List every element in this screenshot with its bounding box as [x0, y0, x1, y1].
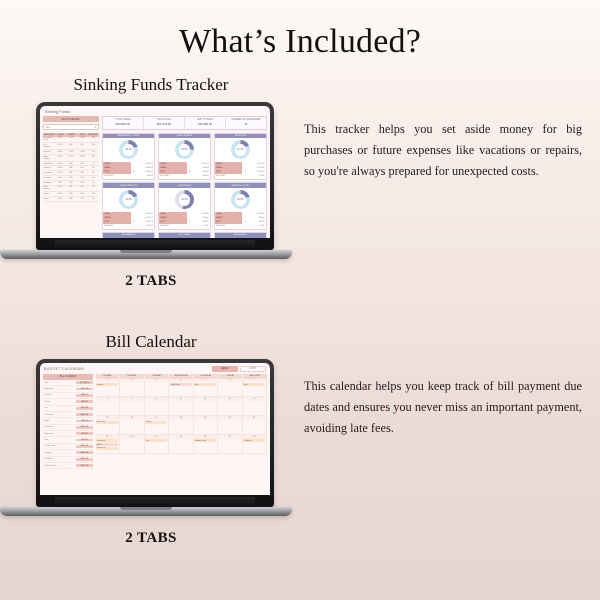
calendar-day-cell[interactable]: Car [145, 439, 170, 454]
fund-row-value: 2,400.00 [137, 167, 155, 169]
button-label: PRINT [250, 368, 257, 370]
table-cell: 3,000 [54, 150, 65, 154]
calendar-day-cell[interactable] [218, 382, 243, 397]
table-cell: Vacation [43, 150, 54, 154]
fund-card-table: GOAL1,000.00SAVED480.00LEFT$520.00MONTHL… [215, 212, 266, 229]
table-cell: 600 [54, 176, 65, 180]
table-cell: 480 [65, 166, 76, 170]
calendar-event[interactable]: Student Loan [194, 439, 216, 442]
calendar-day-cell[interactable] [243, 420, 268, 435]
fund-row-value: 2,600.00 [137, 171, 155, 173]
bill-name: Childcare [45, 458, 77, 460]
fund-row-value: 1,500.00 [193, 163, 211, 165]
table-cell: 560 [77, 162, 88, 166]
table-cell: 1,600 [54, 186, 65, 192]
table-cell: 880 [65, 197, 76, 201]
fund-row-value: 65.00 [248, 225, 266, 227]
fund-row-value: 600.00 [193, 171, 211, 173]
donut-percent-label: 44.0% [125, 199, 132, 201]
table-body: Emergency Fund5,0002,4002,600260Car Repa… [43, 137, 99, 202]
fund-row-value: 1,000.00 [248, 213, 266, 215]
fund-card[interactable]: MEDICAL FUND48.0%GOAL1,000.00SAVED480.00… [214, 182, 267, 229]
calendar-day-cell[interactable] [120, 401, 145, 416]
bill-amount: $210.00 [76, 445, 93, 448]
table-cell: 290 [77, 176, 88, 180]
bill-amount: $42.00 [76, 420, 93, 423]
table-cell: Taxes [43, 197, 54, 201]
calendar-event[interactable]: Water [96, 443, 118, 446]
summary-stat-value: $21,375.00 [144, 122, 184, 126]
fund-row-value: 100.00 [193, 175, 211, 177]
bill-amount: $275.00 [76, 458, 93, 461]
table-cell: 900 [65, 143, 76, 149]
fund-row-label: MONTHLY [103, 174, 131, 178]
donut-chart-wrap: 48.0% [103, 138, 154, 162]
table-cell: 2,600 [77, 137, 88, 143]
bill-amount: $190.00 [76, 464, 93, 467]
bill-name: Internet [45, 394, 77, 396]
fund-card-row: MONTHLY65.00 [215, 224, 266, 228]
table-cell: Pet Care [43, 176, 54, 180]
laptop-mockup-bill-calendar: BUDGET CALENDAR RESETPRINT BILL SUMMARY … [0, 359, 292, 516]
donut-chart: 41.7% [231, 140, 250, 159]
donut-chart: 48.0% [231, 190, 250, 209]
calendar-grid: SUNDAYMONDAYTUESDAYWEDNESDAYTHURSDAYFRID… [96, 374, 268, 493]
section-sinking-funds: Sinking Funds Tracker Sinking Funds ADD … [0, 75, 600, 290]
fund-card[interactable]: CHRISTMAS53.3%GOAL1,200.00SAVED640.00LEF… [158, 182, 211, 229]
mockup-column: Sinking Funds ADD CATEGORY ALL ▾ [0, 95, 300, 290]
table-cell: 600 [77, 143, 88, 149]
calendar-day-cells: InsuranceWaterStreamingCarStudent LoanCh… [96, 439, 268, 454]
calendar-day-cell[interactable] [218, 439, 243, 454]
table-cell: 950 [65, 192, 76, 196]
page-title: What’s Included? [0, 0, 600, 61]
button-label: RESET [221, 368, 229, 370]
table-row[interactable]: Home Repairs2,5001,1001,400140 [43, 155, 99, 162]
spreadsheet-title: Sinking Funds [43, 109, 267, 115]
fund-card-row: MONTHLY70.00 [159, 224, 210, 228]
calendar-week: 1234567InternetCredit CardGymRent [96, 379, 268, 398]
donut-chart: 53.3% [175, 190, 194, 209]
bill-amount: $32.00 [76, 432, 93, 435]
fund-card[interactable]: VACATION41.7%GOAL3,000.00SAVED1,250.00LE… [214, 133, 267, 180]
sinking-funds-spreadsheet: Sinking Funds ADD CATEGORY ALL ▾ [40, 106, 270, 238]
laptop-base [0, 250, 292, 259]
laptop-lid: Sinking Funds ADD CATEGORY ALL ▾ [36, 102, 274, 250]
section-title: Sinking Funds Tracker [6, 75, 296, 95]
fund-row-value: 3,000.00 [248, 163, 266, 165]
donut-percent-label: 41.7% [237, 149, 244, 151]
fund-row-value: 5,000.00 [137, 163, 155, 165]
calendar-day-cell[interactable] [145, 401, 170, 416]
fund-card[interactable]: CAR REPAIRS60.0%GOAL1,500.00SAVED900.00L… [158, 133, 211, 180]
table-cell: 310 [65, 176, 76, 180]
description-column: This calendar helps you keep track of bi… [300, 352, 600, 439]
calendar-day-cell[interactable]: InsuranceWaterStreaming [96, 439, 121, 454]
bill-amount: $520.00 [76, 426, 93, 429]
calendar-print-button[interactable]: PRINT [240, 366, 266, 372]
fund-row-label: MONTHLY [103, 224, 131, 228]
donut-percent-label: 60.0% [181, 149, 188, 151]
section-bill-calendar: Bill Calendar BUDGET CALENDAR RESETPRINT [0, 332, 600, 547]
fund-card-row: MONTHLY260.00 [103, 174, 154, 178]
fund-row-value: 140.00 [137, 225, 155, 227]
donut-chart-wrap: 41.7% [215, 138, 266, 162]
calendar-event[interactable]: Childcare [243, 439, 265, 442]
table-cell: 1,800 [54, 192, 65, 196]
table-cell: 55 [88, 197, 99, 201]
calendar-day-cell[interactable] [243, 401, 268, 416]
calendar-day-cells [96, 401, 268, 416]
table-cell: 90 [88, 171, 99, 175]
section-title: Bill Calendar [6, 332, 296, 352]
table-cell: Emergency Fund [43, 137, 54, 143]
donut-chart: 60.0% [175, 140, 194, 159]
calendar-day-cells: ElectricityPhone [96, 420, 268, 435]
fund-card-row: MONTHLY140.00 [103, 224, 154, 228]
fund-row-value: 260.00 [137, 175, 155, 177]
bill-amount: $1,450.00 [76, 381, 93, 384]
donut-percent-label: 48.0% [125, 149, 132, 151]
donut-percent-label: 48.0% [237, 199, 244, 201]
summary-stat-value: $10,820.00 [103, 122, 143, 126]
calendar-day-cell[interactable]: Electricity [96, 420, 121, 435]
add-category-button[interactable]: ADD CATEGORY [43, 116, 99, 122]
table-cell: 640 [65, 162, 76, 166]
donut-chart: 48.0% [119, 140, 138, 159]
chevron-down-icon: ▾ [95, 126, 96, 129]
bill-name: Gym [45, 439, 77, 441]
summary-stat: LEFT TO SAVE$10,555.00 [185, 117, 226, 129]
description-column: This tracker helps you set aside money f… [300, 95, 600, 182]
laptop-mockup-sinking-funds: Sinking Funds ADD CATEGORY ALL ▾ [0, 102, 292, 259]
table-cell: 70 [88, 162, 99, 166]
table-cell: 520 [77, 166, 88, 170]
calendar-day-cell[interactable]: Internet [96, 382, 121, 397]
calendar-event[interactable]: Rent [243, 383, 265, 386]
table-cell: 1,100 [65, 155, 76, 161]
fund-card-row: MONTHLY100.00 [159, 174, 210, 178]
donut-chart-wrap: 53.3% [159, 188, 210, 212]
fund-row-value: 900.00 [193, 167, 211, 169]
fund-row-value: 2,500.00 [137, 213, 155, 215]
laptop-screen: BUDGET CALENDAR RESETPRINT BILL SUMMARY … [40, 363, 270, 495]
lid-hinge [55, 497, 255, 505]
calendar-day-cell[interactable]: Gym [194, 382, 219, 397]
bill-name: Electricity [45, 388, 77, 390]
bill-amount: $310.00 [76, 407, 93, 410]
calendar-event[interactable]: Insurance [96, 439, 118, 442]
bill-amount: $120.00 [76, 388, 93, 391]
table-cell: 1,400 [77, 155, 88, 161]
laptop-base [0, 507, 292, 516]
table-cell: Insurance [43, 171, 54, 175]
fund-row-label: MONTHLY [159, 174, 187, 178]
calendar-toolbar: RESETPRINT [212, 366, 266, 372]
table-cell: 360 [77, 181, 88, 185]
table-cell: 850 [77, 192, 88, 196]
bill-name: Groceries [45, 426, 77, 428]
calendar-week: 22232425262728InsuranceWaterStreamingCar… [96, 435, 268, 454]
laptop-lid: BUDGET CALENDAR RESETPRINT BILL SUMMARY … [36, 359, 274, 507]
add-category-label: ADD CATEGORY [62, 118, 81, 121]
fund-row-value: 560.00 [193, 221, 211, 223]
summary-stat: NUMBER OF CATEGORIES12 [226, 117, 266, 129]
bill-calendar-spreadsheet: BUDGET CALENDAR RESETPRINT BILL SUMMARY … [40, 363, 270, 495]
calendar-event[interactable]: Phone [145, 421, 167, 424]
table-cell: Christmas [43, 162, 54, 166]
sidebar-rows: Rent$1,450.00Electricity$120.00Internet$… [43, 380, 93, 469]
table-cell: 1,200 [54, 162, 65, 166]
bill-name: Streaming [45, 433, 77, 435]
fund-card-table: GOAL5,000.00SAVED2,400.00LEFT$2,600.00MO… [103, 162, 154, 179]
calendar-day-cell[interactable] [120, 420, 145, 435]
fund-card-table: GOAL1,500.00SAVED900.00LEFT$600.00MONTHL… [159, 162, 210, 179]
tabs-count-label: 2 TABS [6, 530, 296, 547]
table-cell: New Laptop [43, 186, 54, 192]
fund-row-value: 1,200.00 [193, 213, 211, 215]
calendar-reset-button[interactable]: RESET [212, 366, 238, 372]
table-cell: 175 [88, 150, 99, 154]
calendar-day-cell[interactable] [194, 401, 219, 416]
table-cell: Tuition [43, 192, 54, 196]
bill-amount: $185.00 [76, 413, 93, 416]
calendar-day-cell[interactable]: Student Loan [194, 439, 219, 454]
bill-amount: $65.00 [76, 394, 93, 397]
bill-name: Savings [45, 452, 77, 454]
table-cell: 2,500 [54, 155, 65, 161]
table-cell: 1,750 [77, 150, 88, 154]
table-cell: 820 [65, 186, 76, 192]
calendar-day-cells: InternetCredit CardGymRent [96, 382, 268, 397]
table-cell: 40 [88, 176, 99, 180]
fund-row-value: 640.00 [193, 217, 211, 219]
table-cell: Birthdays [43, 181, 54, 185]
bill-amount: $35.00 [76, 439, 93, 442]
bill-summary-row[interactable]: Student Loan$190.00 [43, 463, 93, 469]
table-cell: 100 [88, 143, 99, 149]
calendar-week: 15161718192021ElectricityPhone [96, 416, 268, 435]
calendar-day-cell[interactable]: Childcare [243, 439, 268, 454]
fund-row-value: 1,250.00 [248, 167, 266, 169]
summary-stat-key: TOTAL SAVED [103, 119, 143, 121]
fund-row-value: 1,750.00 [248, 171, 266, 173]
table-row[interactable]: Taxes1,02588014555 [43, 197, 99, 202]
table-row[interactable]: Car Repairs1,500900600100 [43, 143, 99, 150]
table-cell: 145 [77, 197, 88, 201]
fund-card[interactable]: EMERGENCY FUND48.0%GOAL5,000.00SAVED2,40… [102, 133, 155, 180]
summary-stat-key: TOTAL GOAL [144, 119, 184, 121]
table-cell: Home Repairs [43, 155, 54, 161]
calendar-event[interactable]: Gym [194, 383, 216, 386]
calendar-day-cell[interactable] [96, 401, 121, 416]
fund-card[interactable]: BIRTHDAYS52.0%GOAL750.00SAVED390.00LEFT$… [214, 232, 267, 238]
summary-stat-value: $10,555.00 [185, 122, 225, 126]
calendar-week: 891011121314 [96, 397, 268, 416]
calendar-title: BUDGET CALENDAR [44, 367, 84, 371]
fund-row-value: 175.00 [248, 175, 266, 177]
table-cell: 780 [77, 186, 88, 192]
fund-card-row: MONTHLY175.00 [215, 174, 266, 178]
donut-chart: 44.0% [119, 190, 138, 209]
table-cell: 110 [88, 192, 99, 196]
table-cell: 1,250 [65, 150, 76, 154]
calendar-day-cell[interactable] [218, 401, 243, 416]
bill-name: Car [45, 407, 77, 409]
calendar-event[interactable]: Streaming [96, 447, 118, 450]
fund-row-value: 1,100.00 [137, 217, 155, 219]
calendar-day-cell[interactable] [169, 420, 194, 435]
table-cell: 5,000 [54, 137, 65, 143]
fund-row-label: MONTHLY [215, 174, 243, 178]
bill-name: Phone [45, 401, 77, 403]
table-cell: Car Repairs [43, 143, 54, 149]
fund-card-table: GOAL2,500.00SAVED1,100.00LEFT$1,400.00MO… [103, 212, 154, 229]
calendar-day-cell[interactable] [120, 439, 145, 454]
fund-card-table: GOAL3,000.00SAVED1,250.00LEFT$1,750.00MO… [215, 162, 266, 179]
calendar-day-cell[interactable] [145, 382, 170, 397]
table-cell: 700 [65, 171, 76, 175]
fund-card[interactable]: INSURANCE50.0%GOAL1,400.00SAVED700.00LEF… [102, 232, 155, 238]
table-cell: 700 [77, 171, 88, 175]
bill-amount: $400.00 [76, 451, 93, 454]
summary-stats: TOTAL SAVED$10,820.00TOTAL GOAL$21,375.0… [102, 116, 267, 130]
filter-value: ALL [46, 126, 50, 129]
section-description: This calendar helps you keep track of bi… [300, 376, 582, 439]
bill-name: Student Loan [45, 465, 77, 467]
fund-cards-row: HOME REPAIRS44.0%GOAL2,500.00SAVED1,100.… [102, 182, 267, 229]
donut-chart-wrap: 48.0% [215, 188, 266, 212]
laptop-screen: Sinking Funds ADD CATEGORY ALL ▾ [40, 106, 270, 238]
mockup-column: BUDGET CALENDAR RESETPRINT BILL SUMMARY … [0, 352, 300, 547]
fund-row-label: MONTHLY [159, 224, 187, 228]
lid-hinge [55, 240, 255, 248]
fund-cards-row: EMERGENCY FUND48.0%GOAL5,000.00SAVED2,40… [102, 133, 267, 180]
calendar-day-cell[interactable] [218, 420, 243, 435]
fund-row-value: 520.00 [248, 221, 266, 223]
calendar-day-cell[interactable] [169, 401, 194, 416]
fund-card[interactable]: HOME REPAIRS44.0%GOAL2,500.00SAVED1,100.… [102, 182, 155, 229]
table-cell: 1,500 [54, 143, 65, 149]
table-cell: 1,000 [54, 166, 65, 170]
summary-stat: TOTAL GOAL$21,375.00 [144, 117, 185, 129]
summary-stat-value: 12 [226, 122, 266, 126]
fund-cards-row: INSURANCE50.0%GOAL1,400.00SAVED700.00LEF… [102, 232, 267, 238]
table-cell: 1,025 [54, 197, 65, 201]
calendar-day-cell[interactable] [169, 439, 194, 454]
table-cell: 750 [54, 181, 65, 185]
calendar-weeks: 1234567InternetCredit CardGymRent8910111… [96, 379, 268, 454]
calendar-day-cell[interactable] [194, 420, 219, 435]
fund-cards-grid: EMERGENCY FUND48.0%GOAL5,000.00SAVED2,40… [102, 133, 267, 239]
fund-row-label: MONTHLY [215, 224, 243, 228]
category-filter-dropdown[interactable]: ALL ▾ [43, 124, 99, 130]
table-row[interactable]: New Laptop1,60082078095 [43, 186, 99, 193]
table-cell: 390 [65, 181, 76, 185]
table-cell: 140 [88, 155, 99, 161]
calendar-day-cell[interactable]: Phone [145, 420, 170, 435]
table-cell: 65 [88, 166, 99, 170]
bill-name: Water [45, 420, 77, 422]
table-cell: 95 [88, 186, 99, 192]
calendar-day-cell[interactable]: Rent [243, 382, 268, 397]
summary-stat: TOTAL SAVED$10,820.00 [103, 117, 144, 129]
section-description: This tracker helps you set aside money f… [300, 119, 582, 182]
table-cell: 1,400 [54, 171, 65, 175]
calendar-event[interactable]: Internet [96, 383, 118, 386]
table-cell: 260 [88, 137, 99, 143]
bill-amount: $48.00 [76, 400, 93, 403]
bill-summary-sidebar: BILL SUMMARY Rent$1,450.00Electricity$12… [43, 374, 93, 493]
fund-row-value: 1,400.00 [137, 221, 155, 223]
calendar-event[interactable]: Electricity [96, 421, 118, 424]
table-cell: Medical [43, 166, 54, 170]
fund-row-value: 70.00 [193, 225, 211, 227]
bill-name: Insurance [45, 414, 77, 416]
donut-percent-label: 53.3% [181, 199, 188, 201]
summary-stat-key: NUMBER OF CATEGORIES [226, 119, 266, 121]
fund-card[interactable]: PET CARE51.7%GOAL600.00SAVED310.00LEFT$2… [158, 232, 211, 238]
tabs-count-label: 2 TABS [6, 273, 296, 290]
fund-row-value: 480.00 [248, 217, 266, 219]
summary-stat-key: LEFT TO SAVE [185, 119, 225, 121]
bill-name: Rent [45, 382, 77, 384]
donut-chart-wrap: 44.0% [103, 188, 154, 212]
calendar-day-cell[interactable] [120, 382, 145, 397]
calendar-event[interactable]: Car [145, 439, 167, 442]
donut-chart-wrap: 60.0% [159, 138, 210, 162]
fund-card-table: GOAL1,200.00SAVED640.00LEFT$560.00MONTHL… [159, 212, 210, 229]
table-cell: 45 [88, 181, 99, 185]
table-cell: 2,400 [65, 137, 76, 143]
calendar-event[interactable]: Credit Card [170, 383, 192, 386]
categories-table: CATEGORYGOALSAVEDLEFTMONTHLY Emergency F… [43, 133, 99, 239]
table-row[interactable]: Emergency Fund5,0002,4002,600260 [43, 137, 99, 144]
calendar-day-cell[interactable]: Credit Card [169, 382, 194, 397]
bill-name: Credit Card [45, 445, 77, 447]
